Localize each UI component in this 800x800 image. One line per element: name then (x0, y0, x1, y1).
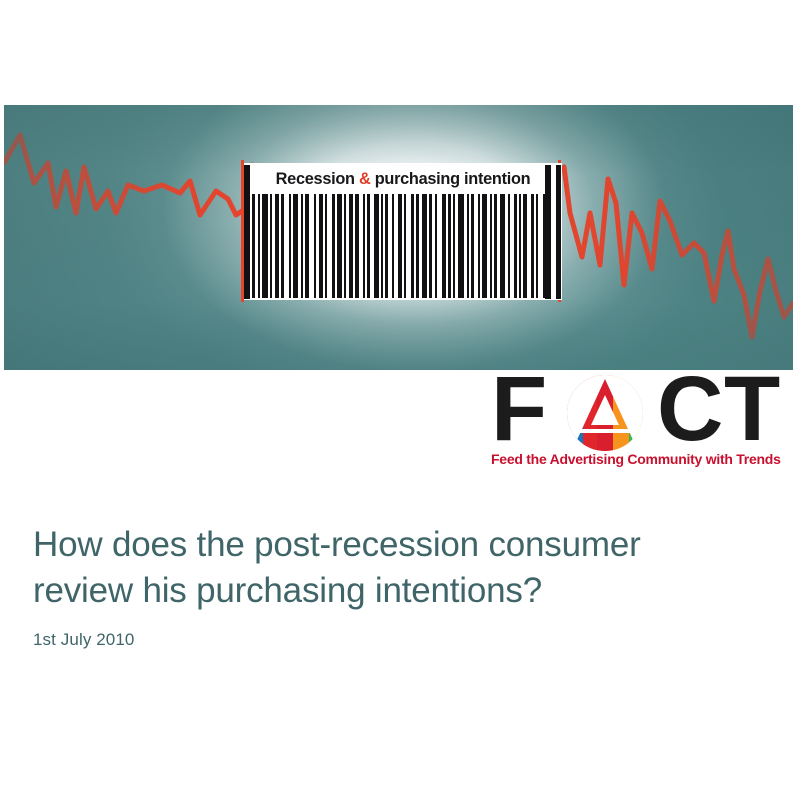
title-block: How does the post-recession consumer rev… (33, 522, 763, 650)
slide-canvas: Recession & purchasing intention F (0, 0, 800, 800)
trend-line-right (564, 167, 793, 337)
barcode-bars (252, 194, 554, 298)
page-title: How does the post-recession consumer rev… (33, 522, 763, 614)
barcode-graphic: Recession & purchasing intention (244, 163, 562, 300)
barcode-title-ampersand: & (359, 169, 371, 188)
barcode-title-prefix: Recession (276, 169, 359, 188)
barcode-guard-right (545, 165, 551, 299)
barcode-title: Recession & purchasing intention (250, 165, 555, 192)
fact-wordmark: F (489, 372, 794, 454)
logo-letter-a-mark (561, 375, 649, 451)
fact-logo: F (489, 372, 794, 475)
logo-letter-c: C (657, 368, 721, 450)
trend-line-left (4, 135, 252, 215)
barcode-guard-right-outer (556, 165, 561, 299)
barcode-guard-left (244, 165, 250, 299)
barcode-title-suffix: purchasing intention (370, 169, 530, 188)
logo-tagline: Feed the Advertising Community with Tren… (491, 452, 789, 468)
logo-letter-t: T (724, 368, 778, 450)
logo-letter-f: F (491, 368, 545, 450)
slide-date: 1st July 2010 (33, 630, 763, 650)
